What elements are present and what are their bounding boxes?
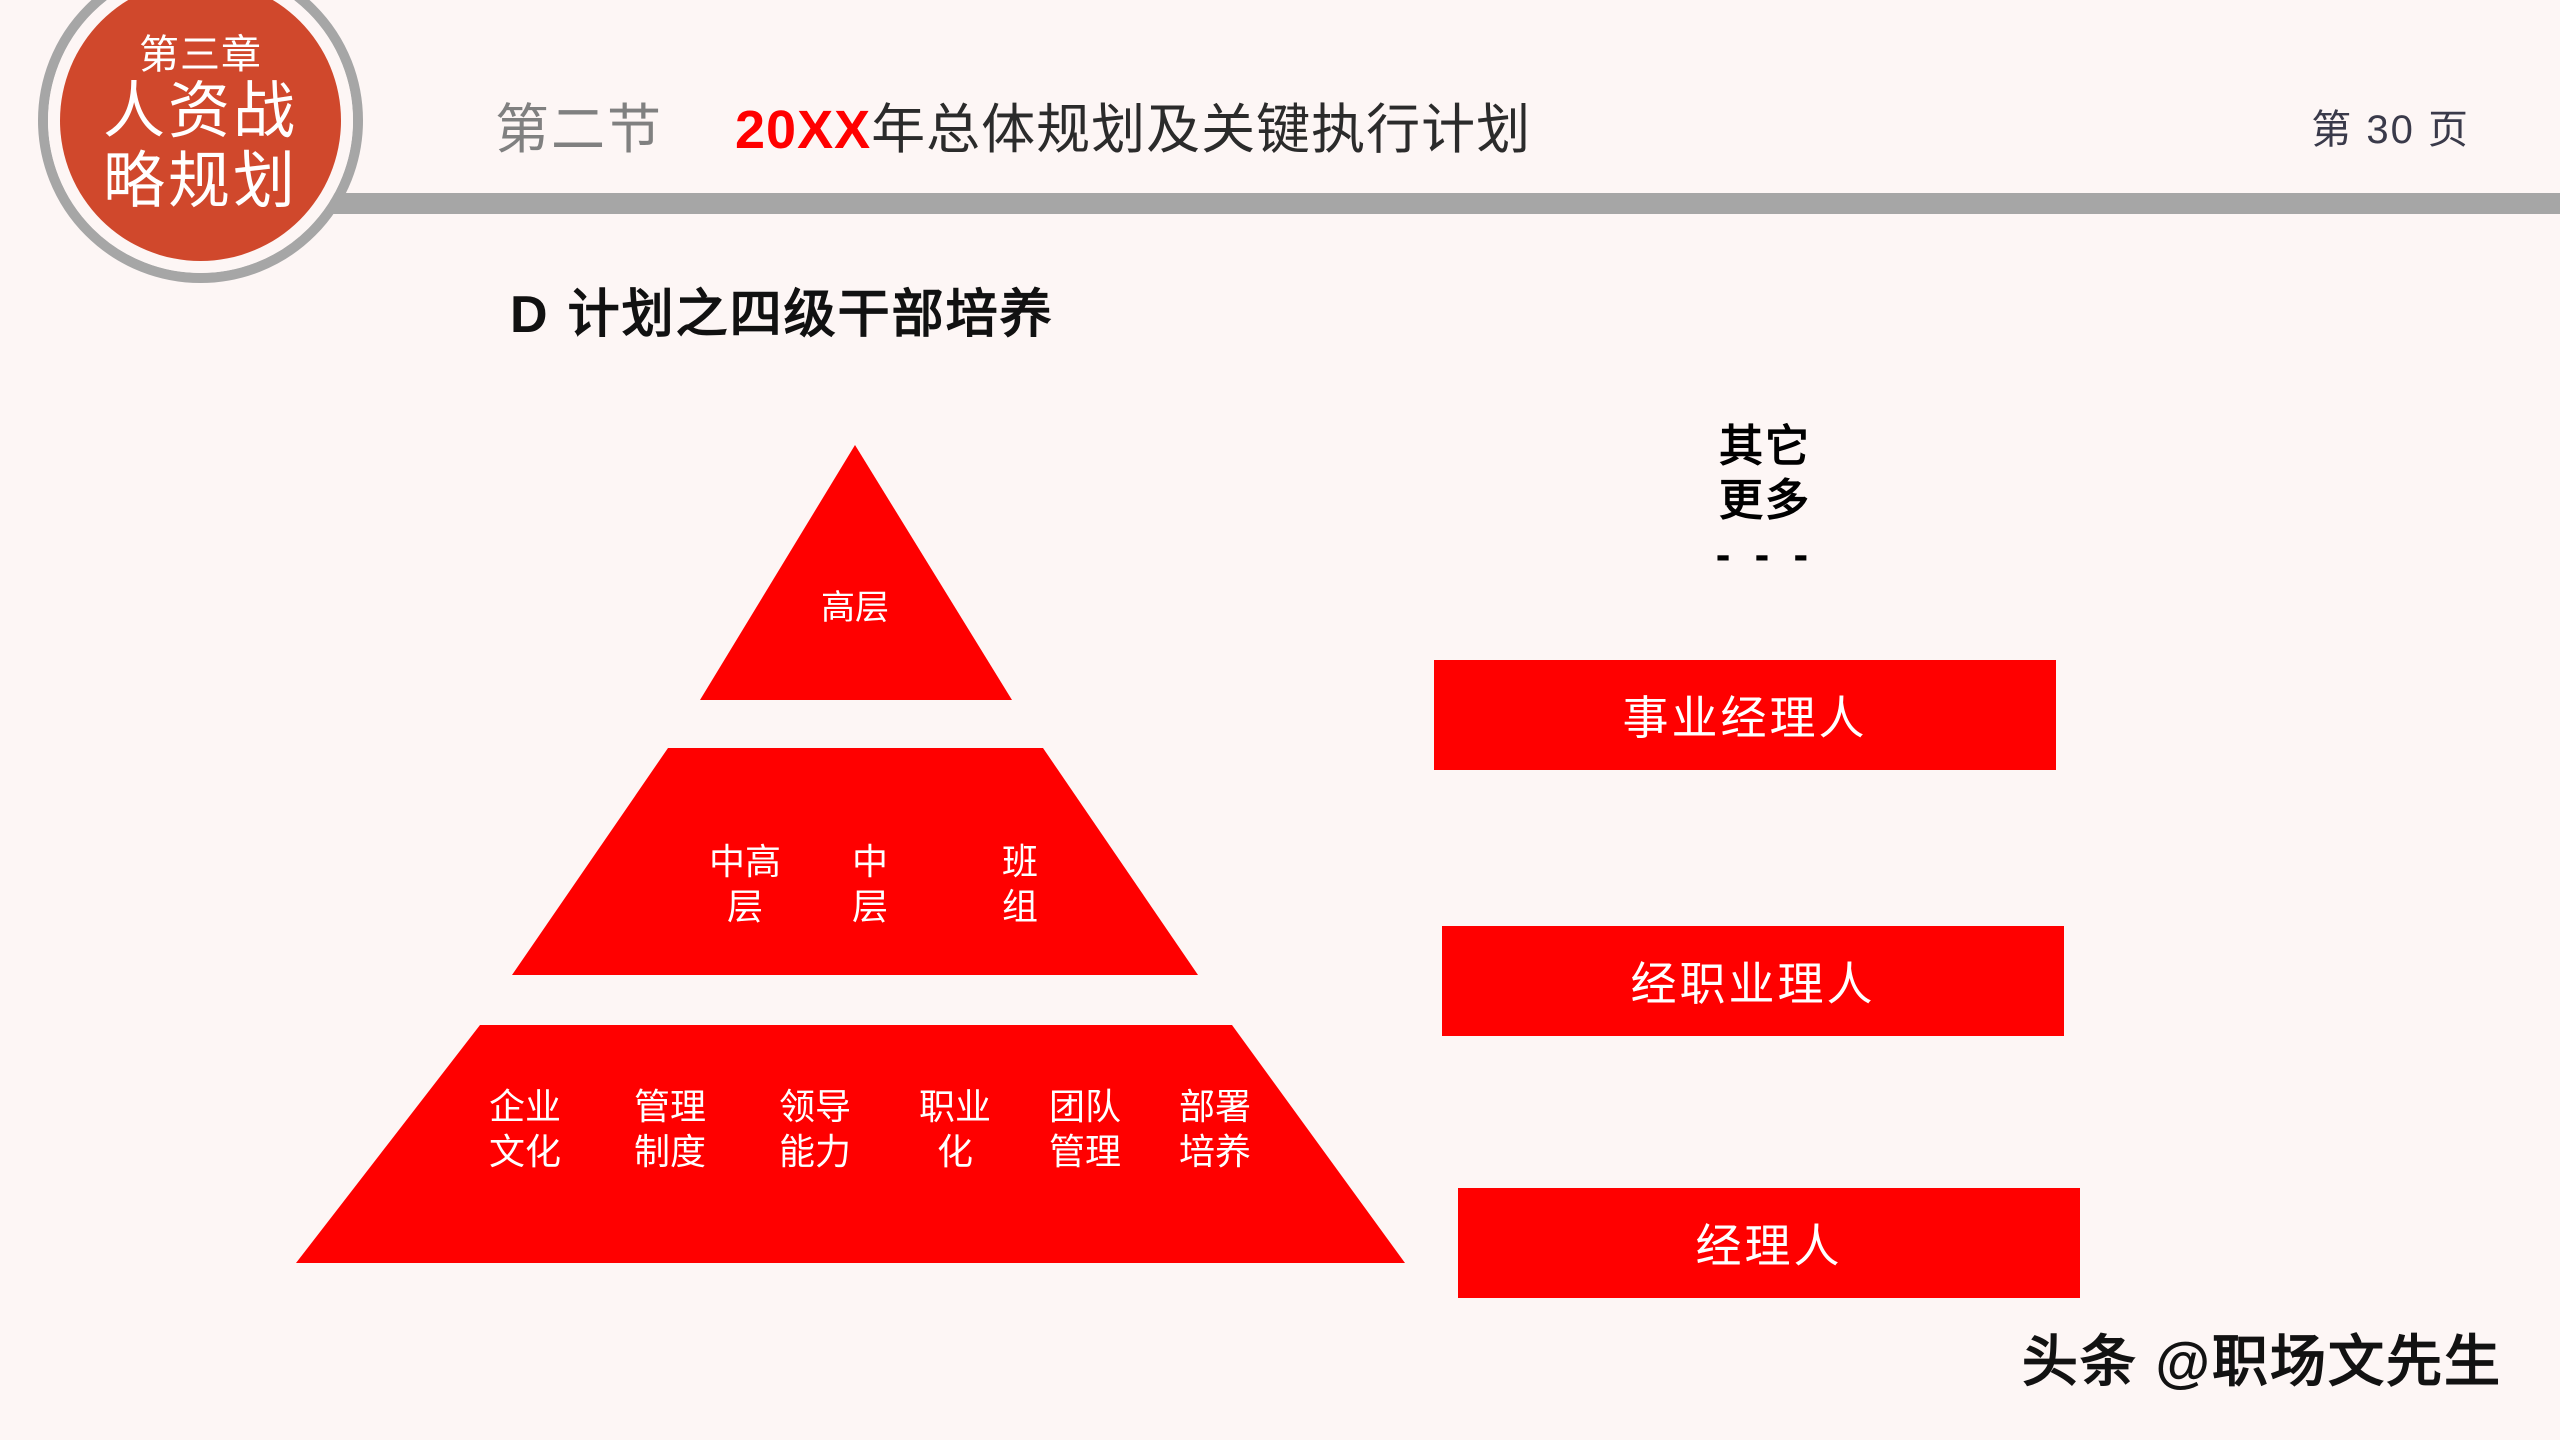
career-track-bar-2-label: 经职业理人	[1631, 948, 1876, 1014]
side-note-line-2: 更多	[1635, 474, 1895, 528]
badge-chapter-label: 第三章	[139, 32, 262, 78]
pyramid-tier-3-label-4: 团队 管理	[1030, 1085, 1140, 1175]
pyramid-tier-2-label-1: 中 层	[815, 840, 925, 930]
header-main-title: 年总体规划及关键执行计划	[871, 85, 1531, 164]
watermark: 头条 @职场文先生	[2022, 1317, 2502, 1398]
pyramid-tier-2-label-2: 班 组	[965, 840, 1075, 930]
side-note: 其它 更多 - - -	[1635, 420, 1895, 577]
header-section-label: 第二节	[495, 85, 663, 164]
career-track-bar-3-label: 经理人	[1696, 1210, 1843, 1276]
career-track-bar-1[interactable]: 事业经理人	[1434, 660, 2056, 770]
side-note-line-1: 其它	[1635, 420, 1895, 474]
side-note-dashes: - - -	[1635, 533, 1895, 577]
badge-title-line-1: 人资战	[103, 78, 298, 147]
header-title-row: 第二节 20XX 年总体规划及关键执行计划	[495, 85, 1531, 164]
pyramid-tier-2-label-0: 中高 层	[690, 840, 800, 930]
pyramid-tier-3-label-5: 部署 培养	[1160, 1085, 1270, 1175]
page-title: D计划之四级干部培养	[510, 272, 1054, 347]
header-divider	[330, 193, 2560, 214]
career-track-bar-2[interactable]: 经职业理人	[1442, 926, 2064, 1036]
slide-canvas: 第三章 人资战 略规划 第二节 20XX 年总体规划及关键执行计划 第 30 页…	[0, 0, 2560, 1440]
pyramid-tier-1-label-0: 高层	[805, 588, 905, 631]
career-track-bar-1-label: 事业经理人	[1623, 682, 1868, 748]
pyramid-tier-3-label-2: 领导 能力	[760, 1085, 870, 1175]
pyramid-tier-1-shape	[700, 445, 1012, 700]
chapter-badge: 第三章 人资战 略规划	[38, 0, 383, 303]
header-year-label: 20XX	[735, 99, 871, 161]
page-number: 第 30 页	[2311, 97, 2470, 155]
badge-title-line-2: 略规划	[103, 148, 298, 217]
pyramid-tier-3-label-0: 企业 文化	[470, 1085, 580, 1175]
pyramid-tier-3-label-1: 管理 制度	[615, 1085, 725, 1175]
page-title-letter: D	[510, 286, 550, 344]
page-title-text: 计划之四级干部培养	[568, 286, 1054, 344]
career-track-bar-3[interactable]: 经理人	[1458, 1188, 2080, 1298]
pyramid-tier-3-label-3: 职业 化	[900, 1085, 1010, 1175]
